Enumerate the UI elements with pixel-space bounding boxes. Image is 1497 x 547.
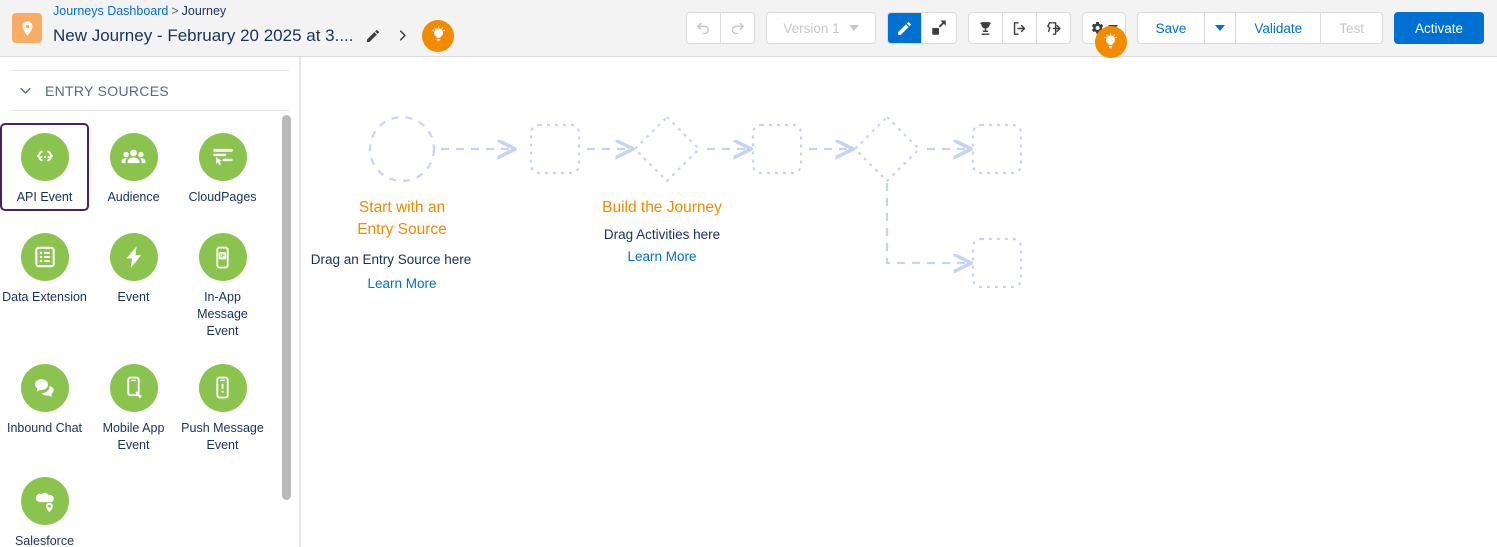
app-header: Journeys Dashboard>Journey New Journey -… [0, 0, 1497, 57]
entry-source-tile-inbound-chat[interactable]: Inbound Chat [0, 354, 89, 456]
entry-hint-title-line2: Entry Source [322, 219, 482, 241]
journey-hint-subtitle: Drag Activities here [577, 227, 747, 242]
settings-wrapper [1082, 12, 1126, 44]
build-journey-hint: Build the Journey Drag Activities here L… [587, 197, 747, 266]
entry-hint-subtitle: Drag an Entry Source here [300, 252, 482, 267]
data-list-icon [21, 233, 69, 281]
people-group-icon [110, 133, 158, 181]
placeholder-activity-1 [531, 125, 579, 173]
tile-label: Salesforce Data [15, 533, 74, 547]
breadcrumb-link-dashboard[interactable]: Journeys Dashboard [53, 4, 168, 18]
mode-toggle-group [887, 12, 957, 44]
in-app-phone-icon [199, 233, 247, 281]
header-left-cluster: Journeys Dashboard>Journey New Journey -… [0, 4, 454, 51]
entry-source-tile-audience[interactable]: Audience [89, 123, 178, 211]
journey-hint-title-line1: Build the Journey [577, 197, 747, 219]
edit-mode-button[interactable] [888, 13, 922, 43]
cloudpage-icon [199, 133, 247, 181]
api-braces-icon [21, 133, 69, 181]
entry-source-tile-salesforce-data[interactable]: Salesforce Data [0, 467, 89, 547]
tile-label: Mobile App Event [103, 420, 165, 454]
push-phone-icon [199, 364, 247, 412]
chevron-down-icon [1215, 25, 1225, 31]
entry-source-tile-data-extension[interactable]: Data Extension [0, 223, 89, 342]
chevron-right-icon[interactable] [395, 28, 410, 43]
undo-redo-group [686, 12, 755, 44]
trophy-icon[interactable] [969, 13, 1003, 43]
lightning-bolt-icon [110, 233, 158, 281]
tile-label: CloudPages [188, 189, 256, 206]
tile-label: Audience [107, 189, 159, 206]
page-title: New Journey - February 20 2025 at 3.... [53, 26, 353, 46]
chevron-down-icon[interactable] [18, 83, 33, 98]
journey-canvas[interactable]: Start with an Entry Source Drag an Entry… [300, 57, 1497, 547]
breadcrumb-separator: > [171, 4, 178, 18]
salesforce-cloud-icon [21, 477, 69, 525]
exit-arrow-icon[interactable] [1003, 13, 1037, 43]
entry-source-tile-mobile-app-event[interactable]: Mobile App Event [89, 354, 178, 456]
entry-source-tile-api-event[interactable]: API Event [0, 123, 89, 211]
entry-source-tile-grid: API Event Audience [0, 111, 299, 547]
vertical-scrollbar[interactable] [282, 115, 291, 500]
chat-bubbles-icon [21, 364, 69, 412]
section-title: ENTRY SOURCES [45, 83, 169, 99]
entry-hint-learn-more-link[interactable]: Learn More [367, 276, 436, 291]
pencil-icon[interactable] [365, 28, 381, 44]
version-dropdown[interactable]: Version 1 [766, 12, 875, 44]
journey-tools-group [968, 12, 1071, 44]
tile-label: Data Extension [2, 289, 87, 306]
breadcrumb-current: Journey [182, 4, 226, 18]
layers-icon[interactable] [922, 13, 956, 43]
entry-source-tile-in-app-message-event[interactable]: In-App Message Event [178, 223, 267, 342]
breadcrumb: Journeys Dashboard>Journey [53, 4, 454, 18]
header-toolbar: Version 1 [686, 12, 1497, 44]
save-dropdown-button[interactable] [1205, 13, 1236, 43]
action-buttons-group: Save Validate Test [1137, 12, 1383, 44]
entry-source-hint: Start with an Entry Source Drag an Entry… [322, 197, 482, 293]
mobile-phone-icon [110, 364, 158, 412]
tile-label: Inbound Chat [7, 420, 82, 437]
placeholder-decision-1 [635, 117, 699, 181]
redo-button[interactable] [721, 13, 754, 43]
entry-hint-title-line1: Start with an [322, 197, 482, 219]
placeholder-entry-circle [370, 117, 434, 181]
exit-lightning-icon[interactable] [1037, 13, 1070, 43]
lightbulb-icon[interactable] [1095, 26, 1127, 58]
lightbulb-icon[interactable] [422, 20, 454, 52]
sidebar-scrollbar-track[interactable] [282, 115, 291, 535]
entry-sources-section-header[interactable]: ENTRY SOURCES [10, 70, 289, 111]
entry-source-tile-cloudpages[interactable]: CloudPages [178, 123, 267, 211]
placeholder-activity-4 [973, 239, 1021, 287]
entry-source-tile-push-message-event[interactable]: Push Message Event [178, 354, 267, 456]
placeholder-activity-3 [973, 125, 1021, 173]
app-body: ENTRY SOURCES API Event [0, 57, 1497, 547]
journey-placeholder-diagram [301, 57, 1473, 547]
validate-button[interactable]: Validate [1236, 13, 1321, 43]
location-pin-icon [12, 13, 42, 43]
placeholder-activity-2 [753, 125, 801, 173]
save-button[interactable]: Save [1138, 13, 1206, 43]
undo-button[interactable] [687, 13, 721, 43]
test-button[interactable]: Test [1321, 13, 1382, 43]
tile-label: API Event [17, 189, 73, 206]
journey-hint-learn-more-link[interactable]: Learn More [627, 249, 696, 264]
tile-label: In-App Message Event [180, 289, 265, 340]
entry-source-tile-event[interactable]: Event [89, 223, 178, 342]
tile-label: Event [118, 289, 150, 306]
entry-sources-sidebar: ENTRY SOURCES API Event [0, 57, 300, 547]
activate-button[interactable]: Activate [1394, 12, 1484, 44]
placeholder-decision-2 [855, 117, 919, 181]
version-label: Version 1 [783, 21, 839, 36]
header-titles: Journeys Dashboard>Journey New Journey -… [53, 4, 454, 51]
title-row: New Journey - February 20 2025 at 3.... [53, 20, 454, 52]
tile-label: Push Message Event [181, 420, 264, 454]
chevron-down-icon [849, 25, 859, 31]
